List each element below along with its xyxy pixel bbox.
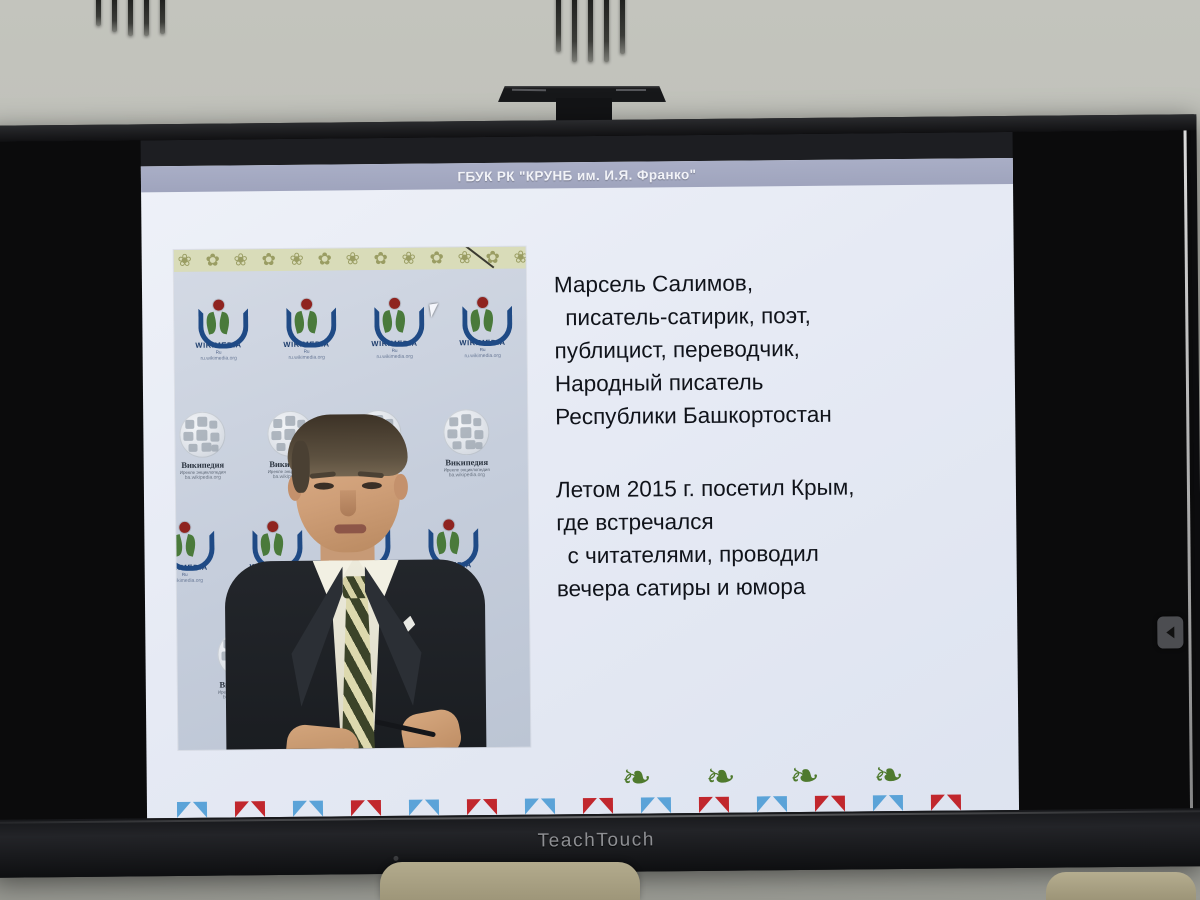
ornament-motif: ✿ <box>426 247 448 269</box>
teachtouch-display: ГБУК РК "КРУНБ им. И.Я. Франко" ❀✿❀✿❀✿❀✿… <box>0 114 1200 878</box>
display-screen[interactable]: ГБУК РК "КРУНБ им. И.Я. Франко" ❀✿❀✿❀✿❀✿… <box>0 130 1197 820</box>
wikimedia-logo-icon: WIKIMEDIARuru.wikimedia.org <box>180 299 257 362</box>
text-line: где встречался <box>556 502 976 539</box>
ornament-motif: ✿ <box>314 248 336 270</box>
wikimedia-glyph <box>284 299 328 339</box>
slide-header-text: ГБУК РК "КРУНБ им. И.Я. Франко" <box>457 166 696 183</box>
power-led-icon <box>393 856 398 861</box>
text-line: Марсель Салимов, <box>554 264 974 301</box>
wikimedia-sub1: Ru <box>269 348 345 354</box>
ornament-motif: ✿ <box>258 249 280 271</box>
chair-back-right <box>1046 872 1196 900</box>
wikimedia-sub1: Ru <box>181 349 257 355</box>
paragraph-2: Летом 2015 г. посетил Крым,где встречалс… <box>556 469 977 605</box>
hair <box>287 414 408 477</box>
wikimedia-glyph <box>196 299 240 339</box>
wikimedia-glyph <box>174 522 207 562</box>
mouse-pointer-icon <box>429 303 444 318</box>
ornament-motif: ✿ <box>202 250 224 272</box>
wikimedia-sub2: ru.wikimedia.org <box>174 578 223 585</box>
room-scene: ГБУК РК "КРУНБ им. И.Я. Франко" ❀✿❀✿❀✿❀✿… <box>0 0 1200 900</box>
ornament-motif: ❀ <box>286 249 308 271</box>
text-line: писатель-сатирик, поэт, <box>554 297 974 334</box>
ear-right <box>394 474 408 500</box>
wikimedia-sub1: Ru <box>174 572 223 578</box>
wikimedia-glyph <box>372 298 416 338</box>
nose <box>340 490 356 516</box>
ornament-motif: ❀ <box>342 248 364 270</box>
wikimedia-sub2: ru.wikimedia.org <box>445 353 521 360</box>
wikimedia-sub2: ru.wikimedia.org <box>357 354 433 361</box>
wikimedia-logo-icon: WIKIMEDIARuru.wikimedia.org <box>268 298 345 361</box>
portrait-photo: ❀✿❀✿❀✿❀✿❀✿❀✿❀✿❀✿❀ WIKIMEDIARuru.wikimedi… <box>174 247 531 750</box>
wikimedia-logo-icon: WIKIMEDIARuru.wikimedia.org <box>356 298 433 361</box>
wikimedia-sub1: Ru <box>445 347 521 353</box>
letterbox-left <box>0 140 147 819</box>
mouth <box>334 524 366 533</box>
chevron-motif <box>177 797 235 819</box>
text-line: вечера сатиры и юмора <box>557 568 977 605</box>
paragraph-1: Марсель Салимов,писатель-сатирик, поэт,п… <box>554 264 976 433</box>
text-line: Летом 2015 г. посетил Крым, <box>556 469 976 506</box>
wikimedia-logo-icon: WIKIMEDIARuru.wikimedia.org <box>174 522 223 585</box>
ceiling-vent-right <box>556 0 625 62</box>
chair-back-left <box>380 862 640 900</box>
wikimedia-sub2: ru.wikimedia.org <box>269 354 345 361</box>
ornament-motif: ❀ <box>230 249 252 271</box>
wall-mount-bracket <box>498 86 666 122</box>
person-figure <box>223 419 486 750</box>
letterbox-right <box>1013 130 1198 810</box>
ceiling-vent-left <box>96 0 165 36</box>
press-wall-backdrop: WIKIMEDIARuru.wikimedia.orgWIKIMEDIARuru… <box>174 269 531 750</box>
slide-text-block: Марсель Салимов,писатель-сатирик, поэт,п… <box>554 264 977 605</box>
text-line: Народный писатель <box>555 363 975 400</box>
wikimedia-sub1: Ru <box>357 348 433 354</box>
wikimedia-sub2: ru.wikimedia.org <box>181 355 257 362</box>
wikipedia-globe-glyph <box>179 412 225 458</box>
chevron-left-icon[interactable] <box>1157 616 1183 648</box>
ornament-motif: ❀ <box>398 248 420 270</box>
text-line: публицист, переводчик, <box>554 330 974 367</box>
presentation-slide[interactable]: ГБУК РК "КРУНБ им. И.Я. Франко" ❀✿❀✿❀✿❀✿… <box>141 158 1019 820</box>
text-line: с читателями, проводил <box>556 535 976 572</box>
ornament-motif: ❀ <box>174 250 196 272</box>
wikimedia-glyph <box>460 297 504 337</box>
wikimedia-logo-icon: WIKIMEDIARuru.wikimedia.org <box>444 297 521 360</box>
device-brand-label: TeachTouch <box>0 824 1200 858</box>
text-line: Республики Башкортостан <box>555 396 975 433</box>
ornament-motif: ❀ <box>510 247 526 269</box>
ornament-motif: ✿ <box>370 248 392 270</box>
